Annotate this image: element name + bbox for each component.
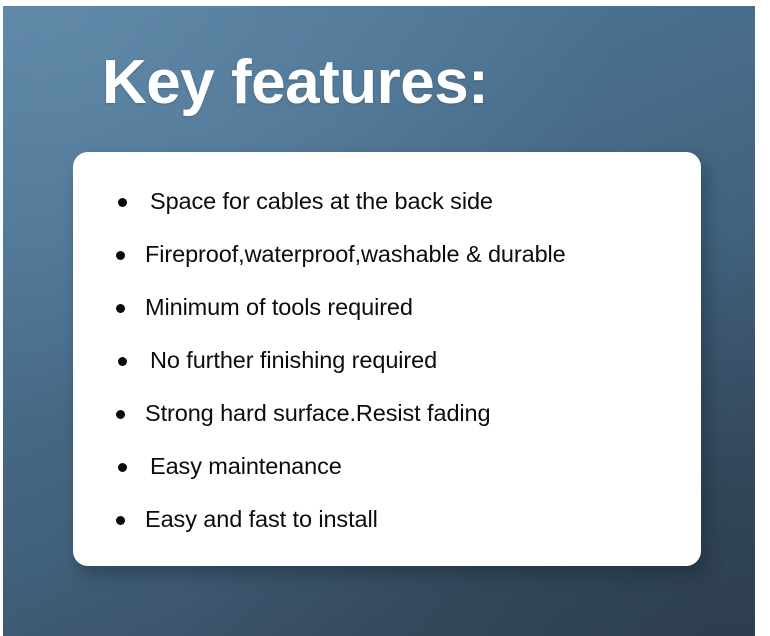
list-item: Minimum of tools required [73,281,701,334]
list-item: Fireproof,waterproof,washable & durable [73,228,701,281]
list-item: Space for cables at the back side [73,175,701,228]
bullet-icon [116,251,125,260]
bullet-icon [118,463,127,472]
list-item-label: Fireproof,waterproof,washable & durable [145,241,566,268]
bullet-icon [118,198,127,207]
bullet-icon [116,516,125,525]
list-item-label: Strong hard surface.Resist fading [145,400,490,427]
slide: Key features: Space for cables at the ba… [0,0,770,636]
list-item-label: Easy maintenance [150,453,342,480]
list-item: Strong hard surface.Resist fading [73,387,701,440]
list-item: Easy and fast to install [73,493,701,546]
features-list: Space for cables at the back side Firepr… [73,152,701,546]
list-item-label: Easy and fast to install [145,506,378,533]
list-item: Easy maintenance [73,440,701,493]
bullet-icon [118,357,127,366]
bullet-icon [116,410,125,419]
list-item-label: Space for cables at the back side [150,188,493,215]
list-item-label: No further finishing required [150,347,437,374]
list-item: No further finishing required [73,334,701,387]
list-item-label: Minimum of tools required [145,294,413,321]
bullet-icon [116,304,125,313]
page-title: Key features: [102,50,488,115]
features-card: Space for cables at the back side Firepr… [73,152,701,566]
